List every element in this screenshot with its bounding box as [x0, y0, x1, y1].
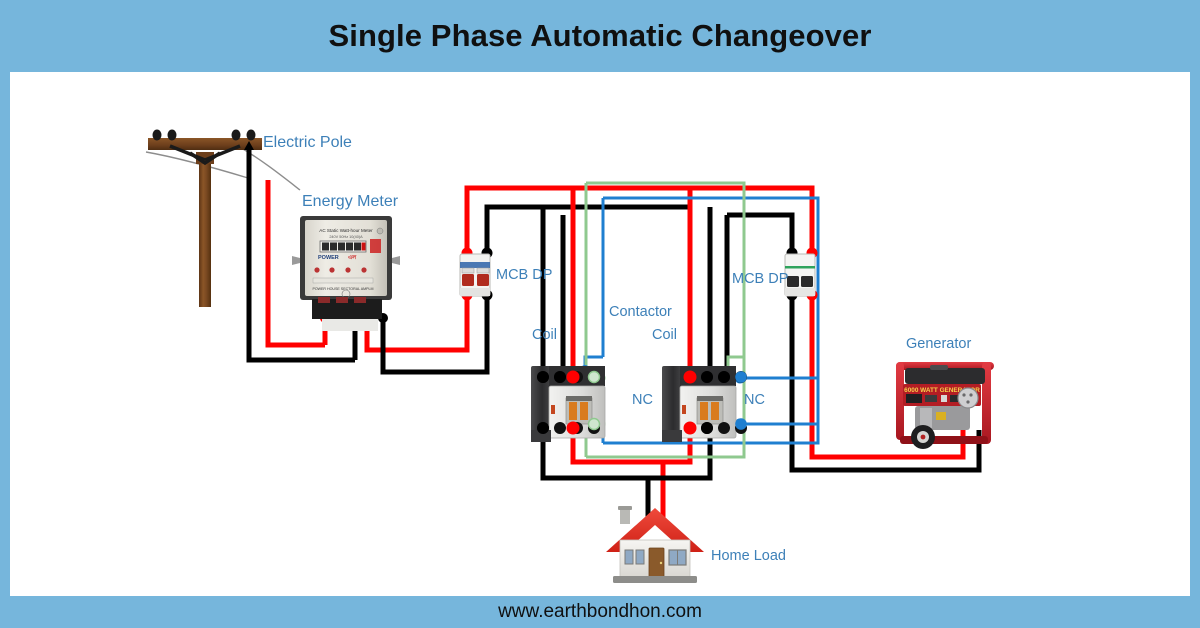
meter-term-cover — [354, 297, 366, 303]
gen-fuel-cap — [930, 365, 948, 370]
label-generator: Generator — [906, 337, 971, 352]
meter-label-strip — [313, 278, 373, 283]
mcb-right-neutral-out — [727, 215, 792, 253]
terminal-dot — [567, 422, 580, 435]
terminal-dot — [589, 419, 600, 430]
terminal-dot — [701, 422, 713, 434]
house-window — [636, 550, 644, 564]
house-doorknob — [660, 562, 662, 564]
footer-bar: www.earthbondhon.com — [0, 596, 1200, 628]
meter-brand: POWER — [318, 255, 339, 261]
insulator — [232, 130, 241, 141]
terminal-dot — [735, 371, 747, 383]
meter-led — [361, 267, 366, 272]
gen-recoil-starter — [958, 388, 978, 408]
mcb-left-neutral-out — [487, 207, 689, 253]
meter-led — [329, 267, 334, 272]
mcb-base — [785, 288, 815, 296]
contactor-armature — [697, 396, 723, 401]
label-electric-pole: Electric Pole — [263, 135, 352, 151]
contactor-armature — [566, 396, 592, 401]
gen-outlet — [941, 395, 947, 402]
house-chimney-cap — [618, 506, 632, 510]
digit — [322, 243, 329, 251]
terminal-dot — [567, 371, 580, 384]
mcb-dp-right — [785, 254, 815, 296]
label-nc-left: NC — [632, 393, 653, 408]
terminal-dot — [701, 371, 713, 383]
contactor-side — [662, 366, 682, 438]
house-foundation — [613, 576, 697, 583]
contactor-coil-core — [700, 402, 708, 420]
meter-ear-left — [292, 256, 300, 265]
contactor-left-out-neutral — [543, 432, 648, 520]
house-chimney — [620, 508, 630, 524]
mcb-toggle[interactable] — [801, 276, 813, 287]
home-load — [606, 506, 704, 583]
meter-led — [314, 267, 319, 272]
meter-barcode — [370, 239, 381, 253]
terminal-dot — [589, 372, 600, 383]
meter-term-cover — [336, 297, 348, 303]
contactor-indicator — [551, 405, 555, 414]
gen-recoil-hole — [966, 400, 969, 403]
footer-website-url: www.earthbondhon.com — [498, 601, 702, 623]
gen-meter — [906, 394, 922, 403]
contactor-coil-core — [711, 402, 719, 420]
gen-recoil-hole — [962, 393, 965, 396]
label-contactor: Contactor — [609, 305, 672, 320]
mcb-dp-left — [460, 254, 490, 296]
label-coil-left: Coil — [532, 328, 557, 343]
digit-decimal — [362, 243, 366, 251]
gen-engine-block — [920, 408, 932, 428]
terminal-dot — [537, 371, 549, 383]
mcb-toggle[interactable] — [462, 274, 474, 286]
mcb-brand-strip — [785, 266, 815, 269]
insulator — [247, 130, 256, 141]
meter-footer-text: POWER HOUSE SECTORAL AMPLM — [312, 287, 373, 291]
contactor-terminal — [554, 422, 566, 434]
label-mcb-dp-right: MCB DP — [732, 272, 788, 287]
gen-engine-accent — [936, 412, 946, 420]
meter-ear-right — [392, 256, 400, 265]
diagram-page: Single Phase Automatic Changeover — [0, 0, 1200, 628]
house-window — [625, 550, 633, 564]
contactor-coil-core — [580, 402, 588, 420]
meter-base — [322, 319, 378, 331]
mcb-toggle[interactable] — [787, 276, 799, 287]
insulator — [168, 130, 177, 141]
digit — [354, 243, 361, 251]
terminal-dot — [684, 422, 697, 435]
terminal-dot — [735, 418, 747, 430]
digit — [338, 243, 345, 251]
mcb-window — [477, 268, 489, 273]
insulator — [153, 130, 162, 141]
contactor-coil-core — [569, 402, 577, 420]
pole-mast — [199, 160, 211, 307]
pole-crossarm — [148, 138, 262, 150]
label-energy-meter: Energy Meter — [302, 194, 398, 210]
terminal-dot — [554, 371, 566, 383]
wiring-diagram: AC Static Watt-hour Meter 240V 50Hz 10(4… — [0, 0, 1200, 628]
meter-out-neutral-to-mcb — [383, 295, 487, 372]
mcb-brand-strip — [460, 262, 490, 268]
gen-recoil-hole — [969, 393, 972, 396]
terminal-dot — [718, 371, 730, 383]
gen-hub-center — [921, 435, 926, 440]
label-coil-right: Coil — [652, 328, 677, 343]
contactor-foot — [662, 430, 682, 442]
terminal-dot — [537, 422, 549, 434]
gen-switch — [925, 395, 937, 402]
gen-fuel-tank — [905, 368, 985, 384]
contactor-indicator — [682, 405, 686, 414]
digit — [346, 243, 353, 251]
label-mcb-dp-left: MCB DP — [496, 268, 552, 283]
label-nc-right: NC — [744, 393, 765, 408]
terminal-dot — [684, 371, 697, 384]
meter-seal — [377, 228, 383, 234]
meter-face-title: AC Static Watt-hour Meter — [319, 228, 373, 233]
meter-face-spec: 240V 50Hz 10(40)A — [329, 235, 363, 239]
mcb-window — [462, 268, 474, 273]
contactor-terminal — [718, 422, 730, 434]
mcb-base — [460, 288, 490, 296]
mcb-toggle[interactable] — [477, 274, 489, 286]
meter-term-cover — [318, 297, 330, 303]
gen-frame-left — [896, 362, 904, 440]
label-home-load: Home Load — [711, 549, 786, 564]
meter-led — [345, 267, 350, 272]
meter-brand-mark: এল — [348, 254, 357, 261]
gen-outlet — [950, 395, 958, 402]
digit — [330, 243, 337, 251]
